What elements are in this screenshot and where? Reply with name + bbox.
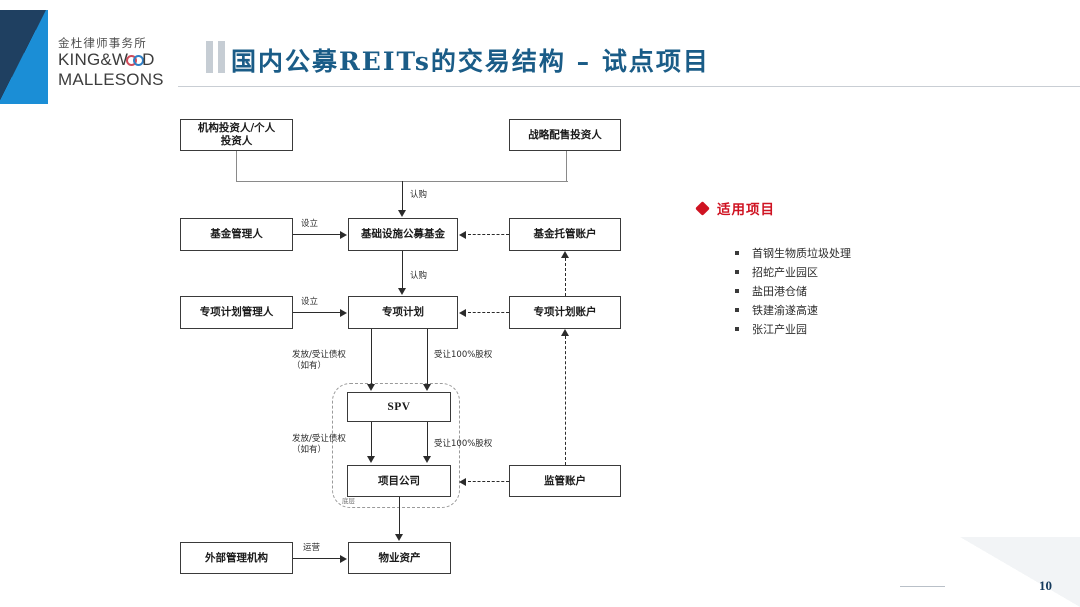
edge-label-establish-abs: 设立 (301, 297, 318, 308)
node-spv-label: SPV (387, 401, 410, 414)
edge-abs-account-to-plan-arrow-icon (459, 309, 466, 317)
node-fund-custody-account-label: 基金托管账户 (534, 228, 597, 241)
edge-equity-1-line (427, 329, 428, 385)
edge-label-loan-claim-1: 发放/受让债权 （如有） (292, 350, 346, 372)
edge-custody-to-fund-line (468, 234, 509, 235)
list-item: 铁建渝遂高速 (735, 301, 1027, 320)
square-bullet-icon (735, 289, 739, 293)
square-bullet-icon (735, 270, 739, 274)
edge-label-operation: 运营 (303, 543, 320, 554)
edge-loan-claim-2-arrow-icon (367, 456, 375, 463)
edge-subscribe-abs-line (402, 251, 403, 289)
red-diamond-bullet-icon (695, 201, 710, 216)
node-abs-manager-label: 专项计划管理人 (200, 306, 274, 319)
edge-label-loan-claim-2: 发放/受让债权 （如有） (292, 434, 346, 456)
transaction-structure-diagram: 机构投资人/个人 投资人 战略配售投资人 基金管理人 基础设施公募基金 基金托管… (0, 0, 680, 607)
edge-project-to-property-arrow-icon (395, 534, 403, 541)
node-external-manager[interactable]: 外部管理机构 (180, 542, 293, 574)
node-fund-manager[interactable]: 基金管理人 (180, 218, 293, 251)
edge-equity-2-arrow-icon (423, 456, 431, 463)
node-abs-plan-label: 专项计划 (382, 306, 424, 319)
edge-label-subscribe-fund: 认购 (410, 190, 427, 201)
edge-label-establish-fund: 设立 (301, 219, 318, 230)
node-fund-manager-label: 基金管理人 (210, 228, 263, 241)
edge-custody-to-fund-arrow-icon (459, 231, 466, 239)
list-item: 张江产业园 (735, 320, 1027, 339)
node-retail-investors[interactable]: 机构投资人/个人 投资人 (180, 119, 293, 151)
node-abs-account-label: 专项计划账户 (534, 306, 597, 319)
edge-supervision-up-line (565, 336, 566, 465)
list-item: 首钢生物质垃圾处理 (735, 244, 1027, 263)
list-item-label: 铁建渝遂高速 (752, 304, 818, 317)
edge-abs-account-up-arrow-icon (561, 251, 569, 258)
node-fund-custody-account[interactable]: 基金托管账户 (509, 218, 621, 251)
list-item-label: 招蛇产业园区 (752, 266, 818, 279)
node-supervision-account[interactable]: 监管账户 (509, 465, 621, 497)
edge-establish-fund-arrow-icon (340, 231, 347, 239)
applicable-projects-panel: 适用项目 首钢生物质垃圾处理 招蛇产业园区 盐田港仓储 铁建渝遂高速 张江产业园 (697, 198, 1027, 339)
node-public-fund[interactable]: 基础设施公募基金 (348, 218, 458, 251)
edge-subscribe-fund-line (402, 181, 403, 211)
node-public-fund-label: 基础设施公募基金 (361, 228, 445, 241)
edge-abs-account-to-plan-line (468, 312, 509, 313)
square-bullet-icon (735, 251, 739, 255)
list-item: 盐田港仓储 (735, 282, 1027, 301)
node-project-company[interactable]: 项目公司 (347, 465, 451, 497)
edge-abs-account-up-line (565, 258, 566, 296)
edge-subscribe-abs-arrow-icon (398, 288, 406, 295)
edge-loan-claim-1-line (371, 329, 372, 385)
list-item-label: 张江产业园 (752, 323, 807, 336)
edge-subscribe-fund-arrow-icon (398, 210, 406, 217)
edge-loan-claim-2-line (371, 422, 372, 457)
edge-label-equity-2: 受让100%股权 (434, 439, 492, 450)
square-bullet-icon (735, 327, 739, 331)
node-retail-investors-label: 机构投资人/个人 投资人 (198, 122, 275, 148)
list-item-label: 首钢生物质垃圾处理 (752, 247, 851, 260)
applicable-projects-list: 首钢生物质垃圾处理 招蛇产业园区 盐田港仓储 铁建渝遂高速 张江产业园 (735, 244, 1027, 339)
edge-retail-drop (236, 151, 237, 182)
corner-decoration (960, 537, 1080, 607)
edge-equity-2-line (427, 422, 428, 457)
applicable-projects-header: 适用项目 (697, 198, 1027, 218)
page-number: 10 (1039, 578, 1052, 594)
node-external-manager-label: 外部管理机构 (205, 552, 268, 565)
footer-divider (900, 586, 945, 587)
edge-establish-abs-line (293, 312, 341, 313)
edge-project-to-property-line (399, 497, 400, 535)
node-property-assets-label: 物业资产 (379, 552, 421, 565)
edge-establish-abs-arrow-icon (340, 309, 347, 317)
node-property-assets[interactable]: 物业资产 (348, 542, 451, 574)
node-abs-manager[interactable]: 专项计划管理人 (180, 296, 293, 329)
edge-strategic-drop (566, 151, 567, 182)
node-spv[interactable]: SPV (347, 392, 451, 422)
edge-establish-fund-line (293, 234, 341, 235)
edge-operation-line (293, 558, 341, 559)
edge-operation-arrow-icon (340, 555, 347, 563)
square-bullet-icon (735, 308, 739, 312)
node-project-company-label: 项目公司 (378, 475, 420, 488)
node-strategic-investors-label: 战略配售投资人 (528, 129, 602, 142)
edge-loan-claim-1-arrow-icon (367, 384, 375, 391)
list-item: 招蛇产业园区 (735, 263, 1027, 282)
edge-label-subscribe-abs: 认购 (410, 271, 427, 282)
node-supervision-account-label: 监管账户 (544, 475, 586, 488)
edge-supervision-to-project-line (468, 481, 509, 482)
applicable-projects-title: 适用项目 (717, 198, 775, 218)
edge-equity-1-arrow-icon (423, 384, 431, 391)
node-abs-plan[interactable]: 专项计划 (348, 296, 458, 329)
edge-supervision-to-project-arrow-icon (459, 478, 466, 486)
edge-label-equity-1: 受让100%股权 (434, 350, 492, 361)
node-strategic-investors[interactable]: 战略配售投资人 (509, 119, 621, 151)
edge-supervision-up-arrow-icon (561, 329, 569, 336)
node-abs-account[interactable]: 专项计划账户 (509, 296, 621, 329)
list-item-label: 盐田港仓储 (752, 285, 807, 298)
